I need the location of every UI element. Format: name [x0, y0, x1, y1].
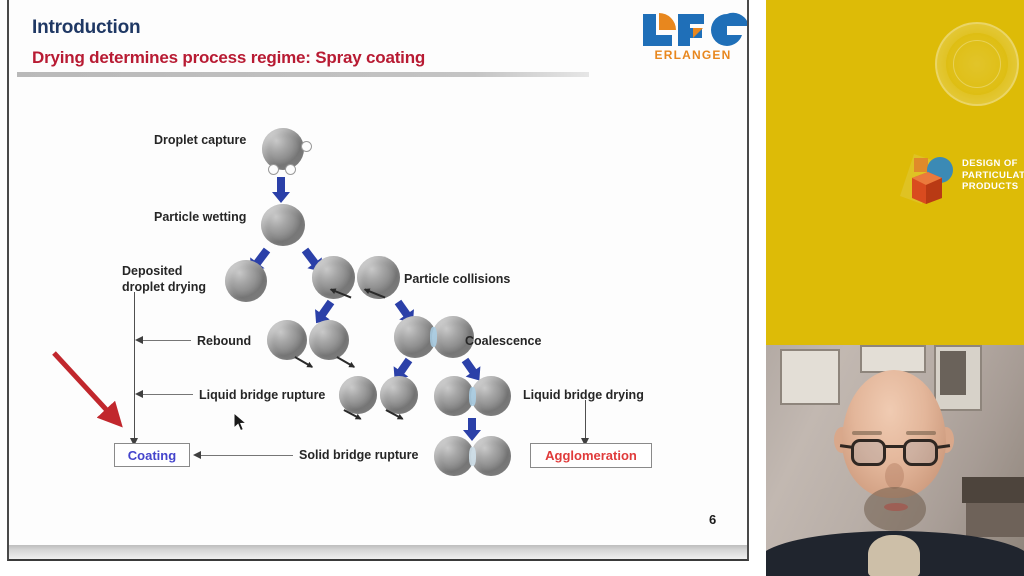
particle-rebound-right [309, 320, 349, 360]
red-annotation-arrow-icon [39, 340, 134, 435]
droplet-small [285, 164, 296, 175]
particle-droplet-capture [262, 128, 304, 170]
slide-viewport: Introduction Drying determines process r… [0, 0, 766, 576]
droplet-small [268, 164, 279, 175]
glasses-bridge [885, 445, 904, 448]
process-arrow-to-liquid-bridge-rupture [397, 358, 412, 375]
presenter-brow-left [852, 431, 882, 435]
motion-arrow [337, 356, 355, 367]
process-arrow-to-agglomeration [468, 418, 476, 431]
slide-page: Introduction Drying determines process r… [7, 0, 749, 545]
glasses-lens-left [851, 439, 886, 466]
presenter-mouth [884, 503, 908, 511]
dpp-mark-icon [898, 148, 962, 208]
process-arrow-to-rebound [319, 300, 335, 318]
presenter-brow-right [906, 431, 936, 435]
liquid-bridge [469, 387, 476, 406]
process-arrow-down [277, 177, 285, 193]
dpp-logo-text: DESIGN OF PARTICULATE PRODUCTS [962, 158, 1024, 193]
slide-page-number: 6 [709, 512, 716, 527]
process-arrow-to-coalescence [395, 300, 411, 318]
label-liquid-bridge-drying: Liquid bridge drying [523, 388, 644, 403]
droplet-small [301, 141, 312, 152]
connector-rebound-arrowhead [135, 336, 143, 344]
presenter-collar [868, 535, 920, 576]
label-solid-bridge-rupture: Solid bridge rupture [299, 448, 418, 463]
particle-agglomerate-left [434, 436, 474, 476]
particle-bridge-drying-left [434, 376, 474, 416]
solid-bridge [469, 447, 476, 466]
presenter-webcam-feed[interactable] [766, 345, 1024, 576]
wall-object [940, 351, 966, 395]
particle-deposited-droplet [225, 260, 267, 302]
connector-solid-bridge-rupture-arrowhead [193, 451, 201, 459]
fau-university-seal-icon [935, 22, 1019, 106]
label-particle-collisions: Particle collisions [404, 272, 510, 287]
desk-object [966, 503, 1024, 537]
connector-solid-bridge-rupture [197, 455, 293, 456]
glasses-lens-right [903, 439, 938, 466]
dpp-line-2: PARTICULATE [962, 170, 1024, 182]
wall-picture [860, 345, 926, 373]
presentation-screen: Introduction Drying determines process r… [0, 0, 1024, 576]
particle-agglomerate-right [471, 436, 511, 476]
label-particle-wetting: Particle wetting [154, 210, 246, 225]
label-rebound: Rebound [197, 334, 251, 349]
process-arrow-to-liquid-bridge-drying [462, 358, 477, 375]
outcome-box-agglomeration[interactable]: Agglomeration [530, 443, 652, 468]
slide-outer-background [0, 561, 766, 576]
desk-object [962, 477, 1024, 503]
connector-rebound [137, 340, 191, 341]
connector-liquid-bridge-rupture [137, 394, 193, 395]
presenter-nose [885, 463, 904, 489]
liquid-bridge [430, 327, 437, 347]
label-deposited-droplet-drying-line1: Deposited [122, 264, 182, 279]
particle-bridge-drying-right [471, 376, 511, 416]
dpp-line-1: DESIGN OF [962, 158, 1024, 170]
connector-spine [134, 292, 135, 440]
wall-picture [780, 349, 840, 405]
design-of-particulate-products-logo: DESIGN OF PARTICULATE PRODUCTS [898, 148, 1024, 210]
particle-wetting [261, 204, 305, 246]
dpp-line-3: PRODUCTS [962, 181, 1024, 193]
label-liquid-bridge-rupture: Liquid bridge rupture [199, 388, 325, 403]
slide-bottom-bar [7, 545, 749, 561]
connector-liquid-bridge-rupture-arrowhead [135, 390, 143, 398]
connector-agglomeration [585, 400, 586, 440]
label-droplet-capture: Droplet capture [154, 133, 246, 148]
motion-arrow [295, 356, 313, 367]
particle-rebound-left [267, 320, 307, 360]
seal-inner-ring [953, 40, 1001, 88]
process-regime-diagram: Droplet capture Particle wetting Deposit… [9, 0, 749, 545]
label-coalescence: Coalescence [465, 334, 541, 349]
mouse-pointer-icon [233, 412, 249, 434]
outcome-box-coating[interactable]: Coating [114, 443, 190, 467]
